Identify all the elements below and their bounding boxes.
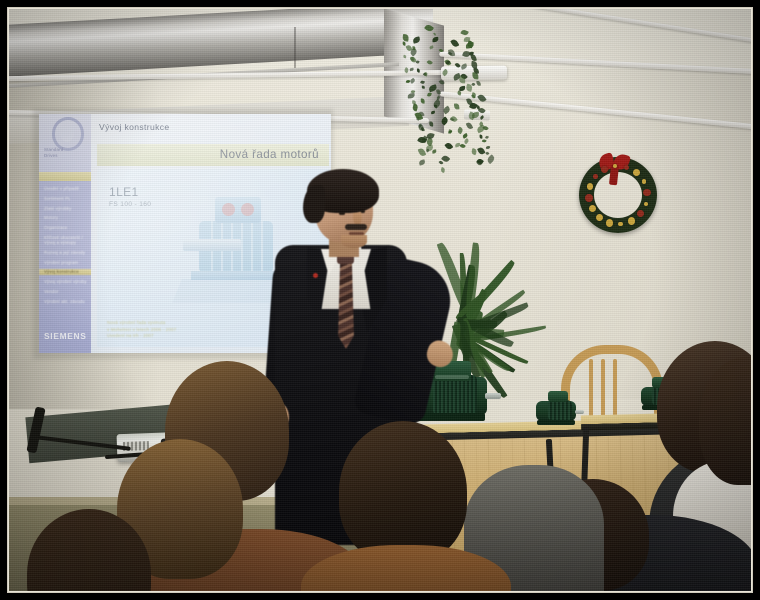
slide-sidebar-header: Standard Drives bbox=[39, 114, 91, 172]
motor-medium-terminal-box bbox=[548, 391, 568, 402]
siemens-logo: SIEMENS bbox=[44, 331, 87, 341]
logo-caption-line-2: Drives bbox=[44, 153, 90, 159]
photo-frame: Standard Drives Úvodní v případě Sortime… bbox=[0, 0, 760, 600]
slide-sidebar-menu: Úvodní v případě Sortiment PL Zlaté výro… bbox=[43, 186, 91, 309]
photo-inner-border: Standard Drives Úvodní v případě Sortime… bbox=[7, 7, 753, 593]
wreath-ornament bbox=[637, 210, 644, 217]
presenter-sideburn bbox=[303, 185, 325, 223]
sidebar-item-3[interactable]: Motory bbox=[43, 215, 91, 220]
sidebar-item-2[interactable]: Zlaté výrobky bbox=[43, 206, 91, 211]
motor-frame-size: FS 100 - 160 bbox=[109, 201, 151, 208]
lapel-pin-icon bbox=[313, 273, 318, 278]
motor-fin-4 bbox=[241, 221, 243, 273]
slide-header-text: Vývoj konstrukce bbox=[99, 122, 325, 132]
wreath-ornament bbox=[593, 174, 598, 179]
wreath-ornament bbox=[618, 222, 623, 227]
sidebar-item-7[interactable]: Výrobní program bbox=[43, 260, 91, 265]
ceiling-light-fixture-2 bbox=[464, 109, 490, 120]
ceiling-light-fixture-1 bbox=[441, 66, 507, 81]
wreath-ornament bbox=[589, 205, 596, 212]
slide-footnote-line-3: Uvedení na trh - 2007 bbox=[107, 333, 229, 339]
sidebar-item-10[interactable]: Vendor bbox=[43, 289, 91, 294]
sidebar-item-9[interactable]: Vývoj výrobní výroby bbox=[43, 279, 91, 284]
wreath-ornament bbox=[643, 189, 651, 197]
wreath-ornament bbox=[628, 217, 636, 225]
wreath-ornament bbox=[585, 194, 593, 202]
sidebar-item-4[interactable]: Organizace bbox=[43, 225, 91, 230]
motor-medium-fins bbox=[548, 400, 572, 421]
slide-title-band: Nová řada motorů bbox=[97, 144, 329, 166]
wreath-ornament bbox=[642, 179, 646, 183]
wreath-ornament bbox=[633, 169, 640, 176]
electric-motor-medium bbox=[534, 391, 584, 429]
motor-shaft bbox=[183, 239, 241, 251]
sidebar-item-6[interactable]: Rozvoj a její závody bbox=[43, 250, 91, 255]
sidebar-item-5[interactable]: Klíčové ukazatelé / Vývoj a výstupy bbox=[43, 235, 91, 245]
wreath-ornament bbox=[613, 164, 617, 168]
wreath-ornament bbox=[601, 166, 608, 173]
wreath-ornament bbox=[624, 165, 629, 170]
presenter-chin bbox=[341, 235, 367, 248]
sidebar-logo-caption: Standard Drives bbox=[44, 147, 90, 159]
wreath-ornament bbox=[587, 183, 593, 189]
motor-model-code: 1LE1 bbox=[109, 185, 139, 199]
motor-medium-foot bbox=[537, 420, 575, 425]
sidebar-accent-bar bbox=[39, 172, 91, 181]
motor-indicator-left bbox=[222, 203, 235, 216]
slide-title: Nová řada motorů bbox=[220, 148, 319, 161]
presenter-moustache bbox=[345, 224, 367, 230]
chair-slat-2 bbox=[601, 359, 605, 417]
wreath-ornament bbox=[596, 214, 603, 221]
motor-large-shaft bbox=[485, 393, 501, 399]
wreath-ornament bbox=[644, 202, 648, 206]
audience-head-center-1 bbox=[339, 421, 467, 563]
wreath-ornaments bbox=[579, 157, 657, 233]
chair-slat-1 bbox=[589, 359, 593, 417]
slide-footnote: Nová výrobní řada vyvinuta v Mohelnici v… bbox=[107, 320, 229, 339]
photo-scene: Standard Drives Úvodní v případě Sortime… bbox=[9, 9, 751, 591]
sidebar-item-1[interactable]: Sortiment PL bbox=[43, 196, 91, 201]
sidebar-item-8-active[interactable]: Vývoj konstrukce bbox=[39, 269, 93, 274]
christmas-wreath bbox=[579, 157, 657, 233]
chair-slat-3 bbox=[613, 359, 617, 417]
sidebar-item-0[interactable]: Úvodní v případě bbox=[43, 186, 91, 191]
slide-sidebar: Standard Drives Úvodní v případě Sortime… bbox=[39, 114, 91, 353]
duct-seam bbox=[294, 27, 296, 71]
motor-medium-shaft bbox=[575, 410, 584, 414]
globe-icon bbox=[52, 117, 84, 151]
wreath-ornament bbox=[606, 219, 614, 227]
sidebar-item-11[interactable]: Výrobní akt. závodu bbox=[43, 299, 91, 304]
